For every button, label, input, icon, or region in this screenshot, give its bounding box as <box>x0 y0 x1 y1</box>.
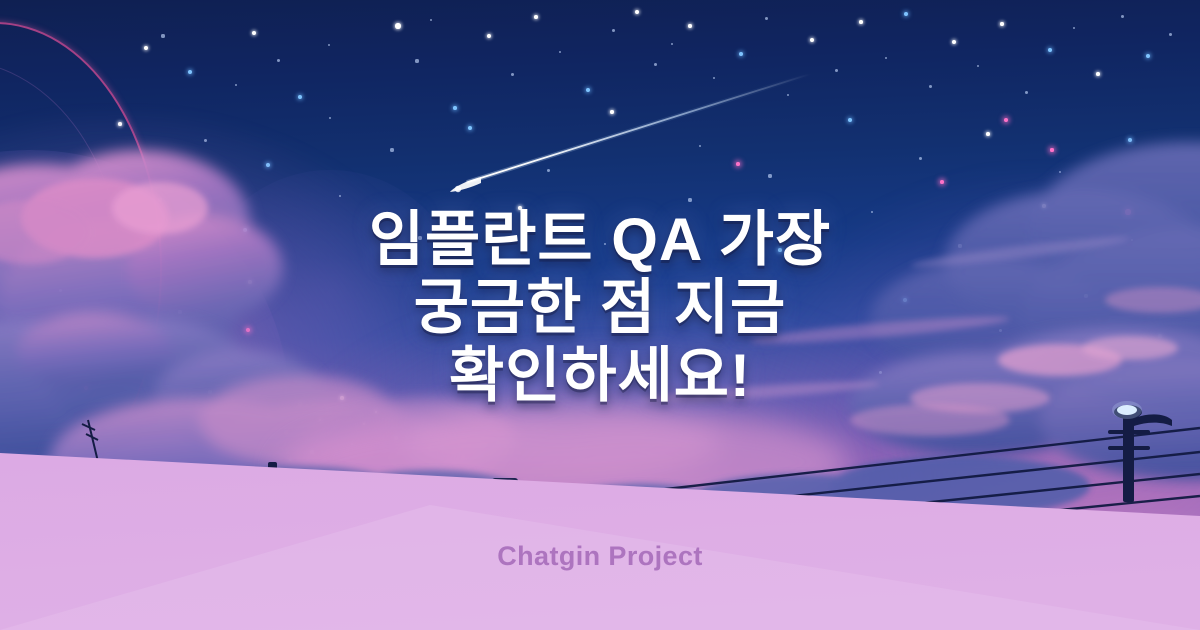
thumbnail-canvas: 임플란트 QA 가장 궁금한 점 지금 확인하세요! Chatgin Proje… <box>0 0 1200 630</box>
headline: 임플란트 QA 가장 궁금한 점 지금 확인하세요! <box>0 206 1200 410</box>
brand-label: Chatgin Project <box>497 541 703 571</box>
footer-brand: Chatgin Project <box>0 541 1200 572</box>
headline-line-1: 임플란트 QA 가장 <box>0 206 1200 274</box>
headline-line-3: 확인하세요! <box>0 342 1200 410</box>
headline-line-2: 궁금한 점 지금 <box>0 274 1200 342</box>
